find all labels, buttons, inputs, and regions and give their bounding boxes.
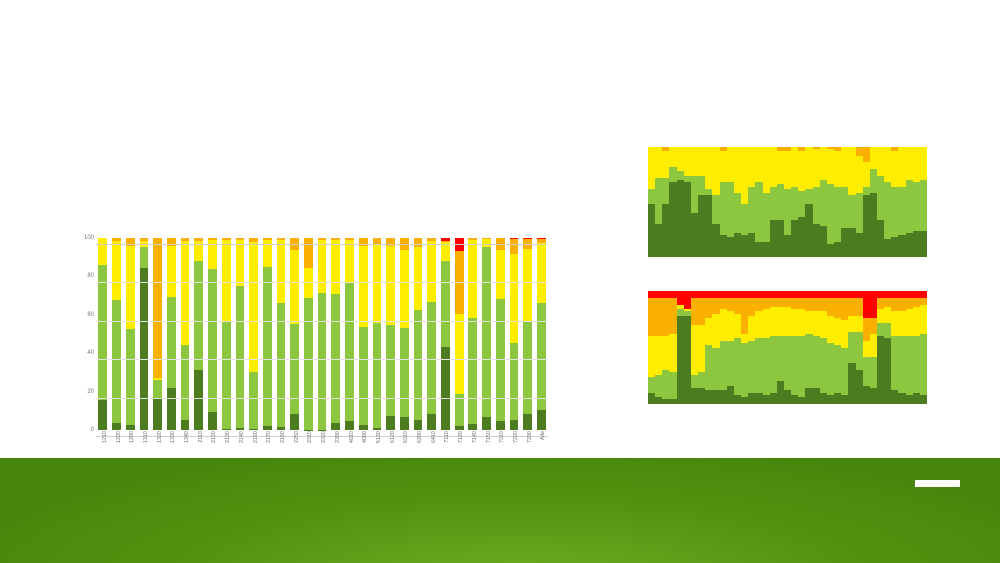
bar-segment-red: [891, 291, 898, 298]
bar-slot[interactable]: [439, 238, 453, 430]
mini-top-bar: [698, 147, 705, 257]
stacked-bar[interactable]: [441, 238, 450, 430]
main-chart-x-axis: 1210122012901310132013301340211021202130…: [96, 431, 548, 444]
y-axis-tick-label: 40: [74, 350, 94, 356]
bar-segment-yellow: [727, 147, 734, 182]
bar-segment-dark-green: [208, 412, 217, 430]
bar-segment-light-green: [770, 187, 777, 220]
bar-segment-light-green: [712, 195, 719, 224]
mini-top-bar: [834, 147, 841, 257]
bar-segment-light-green: [741, 343, 748, 397]
bar-segment-dark-green: [827, 395, 834, 404]
bar-slot[interactable]: [466, 238, 480, 430]
bar-segment-yellow: [813, 149, 820, 186]
mini-bottom-bar: [684, 291, 691, 404]
mini-stacked-bar-chart-top: [648, 147, 927, 257]
bar-segment-yellow: [906, 147, 913, 180]
bar-slot[interactable]: [192, 238, 206, 430]
stacked-bar[interactable]: [208, 238, 217, 430]
bar-slot[interactable]: [233, 238, 247, 430]
bar-segment-yellow: [662, 336, 669, 370]
y-axis-tick-label: 0: [74, 427, 94, 433]
bar-segment-dark-green: [784, 235, 791, 257]
x-label-slot: 2390: [329, 431, 343, 444]
bar-segment-yellow: [249, 242, 258, 373]
bar-segment-red: [712, 291, 719, 298]
bar-slot[interactable]: [247, 238, 261, 430]
bar-segment-dark-green: [784, 390, 791, 404]
mini-top-bar: [906, 147, 913, 257]
stacked-bar[interactable]: [331, 238, 340, 430]
bar-segment-orange: [691, 298, 698, 325]
bar-segment-dark-green: [798, 397, 805, 404]
bar-segment-dark-green: [734, 233, 741, 257]
bar-segment-yellow: [698, 325, 705, 372]
bar-segment-orange: [870, 318, 877, 334]
bar-segment-light-green: [691, 375, 698, 389]
stacked-bar[interactable]: [140, 238, 149, 430]
bar-segment-yellow: [523, 249, 532, 321]
x-label-slot: 1310: [137, 431, 151, 444]
x-axis-tick-label: 2130: [226, 431, 231, 443]
mini-bottom-bar: [677, 291, 684, 404]
bar-segment-light-green: [777, 184, 784, 219]
bar-segment-dark-green: [684, 316, 691, 404]
bar-segment-light-green: [648, 189, 655, 204]
bar-segment-orange: [898, 298, 905, 312]
bar-segment-yellow: [669, 147, 676, 167]
x-axis-tick-label: 2160: [254, 431, 259, 443]
bar-segment-yellow: [763, 147, 770, 193]
bar-segment-red: [813, 291, 820, 298]
bar-segment-light-green: [784, 336, 791, 390]
bar-segment-dark-green: [734, 395, 741, 404]
bar-segment-light-green: [181, 345, 190, 421]
bar-segment-dark-green: [98, 400, 107, 430]
bar-segment-dark-green: [805, 204, 812, 257]
bar-slot[interactable]: [206, 238, 220, 430]
bar-segment-light-green: [482, 247, 491, 416]
bar-segment-dark-green: [891, 390, 898, 404]
bar-slot[interactable]: [507, 238, 521, 430]
bar-segment-light-green: [655, 375, 662, 398]
stacked-bar[interactable]: [277, 238, 286, 430]
mini-top-bar: [669, 147, 676, 257]
bar-slot[interactable]: [219, 238, 233, 430]
bar-segment-dark-green: [898, 393, 905, 404]
bar-segment-dark-green: [236, 428, 245, 430]
bar-segment-light-green: [655, 178, 662, 224]
bar-segment-light-green: [249, 372, 258, 429]
bar-slot[interactable]: [110, 238, 124, 430]
bar-segment-light-green: [763, 193, 770, 241]
bar-slot[interactable]: [480, 238, 494, 430]
bar-segment-dark-green: [359, 425, 368, 430]
stacked-bar[interactable]: [537, 238, 546, 430]
x-axis-tick-label: 7110: [445, 431, 450, 443]
stacked-bar[interactable]: [263, 238, 272, 430]
bar-segment-yellow: [913, 147, 920, 182]
mini-top-bar: [784, 147, 791, 257]
stacked-bar[interactable]: [386, 238, 395, 430]
mini-top-bar: [841, 147, 848, 257]
bar-slot[interactable]: [288, 238, 302, 430]
bar-slot[interactable]: [397, 238, 411, 430]
bar-segment-light-green: [468, 318, 477, 424]
bar-segment-light-green: [400, 328, 409, 417]
bar-segment-light-green: [414, 310, 423, 420]
bar-segment-dark-green: [468, 424, 477, 430]
bar-segment-red: [805, 291, 812, 298]
mini-top-bar: [755, 147, 762, 257]
bar-slot[interactable]: [356, 238, 370, 430]
bar-segment-light-green: [805, 334, 812, 388]
stacked-bar[interactable]: [400, 238, 409, 430]
bar-segment-dark-green: [913, 393, 920, 404]
bar-segment-yellow: [770, 147, 777, 187]
mini-bottom-bar: [863, 291, 870, 404]
stacked-bar[interactable]: [112, 238, 121, 430]
bar-segment-red: [784, 291, 791, 298]
bar-slot[interactable]: [260, 238, 274, 430]
bar-segment-yellow: [698, 147, 705, 176]
bar-slot[interactable]: [452, 238, 466, 430]
bar-segment-dark-green: [684, 182, 691, 257]
bar-slot[interactable]: [411, 238, 425, 430]
x-label-slot: 2160: [247, 431, 261, 444]
bar-segment-orange: [712, 298, 719, 314]
bar-segment-yellow: [777, 151, 784, 184]
x-axis-tick-label: 2310: [308, 431, 313, 443]
mini-top-bar: [734, 147, 741, 257]
bar-segment-orange: [791, 298, 798, 309]
bar-segment-dark-green: [891, 237, 898, 257]
bar-segment-light-green: [784, 189, 791, 235]
bar-segment-dark-green: [763, 395, 770, 404]
bar-segment-yellow: [870, 147, 877, 169]
bar-segment-orange: [705, 298, 712, 318]
bar-segment-yellow: [345, 240, 354, 283]
bar-slot[interactable]: [96, 238, 110, 430]
bar-segment-orange: [304, 238, 313, 268]
mini-bottom-bar: [727, 291, 734, 404]
mini-top-bar: [741, 147, 748, 257]
bar-segment-yellow: [848, 147, 855, 195]
bar-segment-red: [841, 291, 848, 298]
bar-segment-dark-green: [677, 180, 684, 257]
bar-segment-light-green: [813, 336, 820, 388]
stacked-bar[interactable]: [318, 238, 327, 430]
mini-top-bar: [791, 147, 798, 257]
bar-segment-yellow: [684, 147, 691, 176]
stacked-bar[interactable]: [427, 238, 436, 430]
bar-segment-orange: [755, 298, 762, 312]
x-label-slot: 1210: [96, 431, 110, 444]
bar-segment-light-green: [741, 204, 748, 235]
bar-segment-light-green: [698, 372, 705, 388]
stacked-bar[interactable]: [98, 238, 107, 430]
bar-slot[interactable]: [315, 238, 329, 430]
bar-segment-light-green: [820, 180, 827, 226]
bar-segment-yellow: [898, 147, 905, 187]
bar-slot[interactable]: [384, 238, 398, 430]
stacked-bar[interactable]: [290, 238, 299, 430]
bar-slot[interactable]: [151, 238, 165, 430]
bar-slot[interactable]: [425, 238, 439, 430]
mini-top-bar: [798, 147, 805, 257]
stacked-bar[interactable]: [167, 238, 176, 430]
mini-top-bar: [870, 147, 877, 257]
bar-segment-yellow: [712, 147, 719, 195]
bar-segment-light-green: [236, 286, 245, 428]
bar-segment-dark-green: [748, 393, 755, 404]
bar-segment-yellow: [537, 243, 546, 303]
x-label-slot: Alle: [535, 431, 549, 444]
bar-segment-red: [669, 291, 676, 298]
bar-segment-dark-green: [194, 370, 203, 430]
mini-bottom-bar: [856, 291, 863, 404]
bar-segment-dark-green: [720, 390, 727, 404]
x-axis-tick-label: 1290: [130, 431, 135, 443]
bar-segment-dark-green: [877, 336, 884, 404]
mini-bottom-bar: [870, 291, 877, 404]
bar-segment-light-green: [755, 338, 762, 392]
bar-segment-light-green: [712, 348, 719, 391]
bar-segment-dark-green: [662, 399, 669, 404]
bar-segment-dark-green: [345, 421, 354, 430]
x-label-slot: 7150: [480, 431, 494, 444]
stacked-bar[interactable]: [345, 238, 354, 430]
bar-segment-red: [720, 291, 727, 298]
bar-segment-dark-green: [691, 213, 698, 257]
x-axis-tick-label: 2170: [267, 431, 272, 443]
main-chart-bars: [96, 238, 548, 430]
mini-top-bar: [677, 147, 684, 257]
stacked-bar[interactable]: [153, 238, 162, 430]
bar-segment-red: [684, 291, 691, 309]
bar-segment-yellow: [755, 311, 762, 338]
bar-segment-orange: [863, 147, 870, 162]
bar-segment-light-green: [834, 187, 841, 242]
bar-segment-yellow: [741, 147, 748, 204]
bar-segment-light-green: [848, 195, 855, 228]
bar-segment-light-green: [755, 182, 762, 241]
bar-segment-light-green: [662, 178, 669, 204]
mini-top-bar: [770, 147, 777, 257]
bar-slot[interactable]: [343, 238, 357, 430]
bar-segment-red: [755, 291, 762, 298]
bar-segment-light-green: [373, 323, 382, 429]
bar-segment-yellow: [763, 309, 770, 338]
bar-segment-yellow: [455, 314, 464, 394]
mini-bottom-bar: [834, 291, 841, 404]
stacked-bar[interactable]: [455, 238, 464, 430]
bar-segment-yellow: [655, 336, 662, 374]
bar-segment-yellow: [770, 307, 777, 336]
x-label-slot: 1320: [151, 431, 165, 444]
bar-segment-red: [906, 291, 913, 298]
stacked-bar[interactable]: [181, 238, 190, 430]
bar-segment-light-green: [648, 377, 655, 393]
bar-segment-light-green: [856, 332, 863, 370]
stacked-bar[interactable]: [126, 238, 135, 430]
x-axis-tick-label: 1330: [171, 431, 176, 443]
bar-segment-light-green: [510, 343, 519, 420]
bar-segment-orange: [856, 147, 863, 156]
mini-top-bar: [863, 147, 870, 257]
stacked-bar[interactable]: [359, 238, 368, 430]
mini-bottom-bar: [827, 291, 834, 404]
x-label-slot: 6410: [425, 431, 439, 444]
bar-segment-dark-green: [856, 370, 863, 404]
bar-segment-dark-green: [856, 233, 863, 257]
bar-segment-dark-green: [755, 242, 762, 257]
bar-segment-dark-green: [523, 414, 532, 430]
mini-bottom-bar: [898, 291, 905, 404]
mini-top-bar: [827, 147, 834, 257]
bar-segment-dark-green: [748, 233, 755, 257]
bar-slot[interactable]: [178, 238, 192, 430]
x-axis-tick-label: 7140: [473, 431, 478, 443]
bar-segment-yellow: [400, 250, 409, 328]
bar-segment-light-green: [848, 332, 855, 364]
bar-slot[interactable]: [165, 238, 179, 430]
bar-segment-light-green: [684, 176, 691, 183]
bar-segment-orange: [884, 298, 891, 307]
mini-top-bar: [705, 147, 712, 257]
bar-segment-light-green: [813, 187, 820, 224]
bar-segment-orange: [648, 298, 655, 336]
x-axis-tick-label: 7220: [514, 431, 519, 443]
stacked-bar[interactable]: [304, 238, 313, 430]
bar-segment-light-green: [920, 334, 927, 395]
gridline: [96, 244, 548, 245]
gridline: [96, 398, 548, 399]
stacked-bar[interactable]: [496, 238, 505, 430]
bar-segment-light-green: [913, 182, 920, 230]
bar-segment-red: [698, 291, 705, 298]
bar-segment-light-green: [705, 189, 712, 196]
gridline: [96, 321, 548, 322]
bar-segment-dark-green: [791, 220, 798, 257]
bar-segment-orange: [662, 298, 669, 336]
bar-slot[interactable]: [493, 238, 507, 430]
bar-segment-light-green: [318, 293, 327, 430]
bar-segment-yellow: [648, 147, 655, 189]
bar-segment-dark-green: [669, 182, 676, 257]
stacked-bar[interactable]: [222, 238, 231, 430]
mini-top-bar: [813, 147, 820, 257]
bar-segment-dark-green: [249, 429, 258, 430]
stacked-bar[interactable]: [414, 238, 423, 430]
stacked-bar[interactable]: [523, 238, 532, 430]
bar-segment-dark-green: [669, 399, 676, 404]
mini-bottom-bar: [770, 291, 777, 404]
bar-slot[interactable]: [302, 238, 316, 430]
bar-segment-light-green: [763, 338, 770, 395]
x-label-slot: 1220: [110, 431, 124, 444]
bar-segment-dark-green: [770, 220, 777, 257]
bar-segment-red: [691, 291, 698, 298]
bar-segment-light-green: [222, 321, 231, 429]
stacked-bar[interactable]: [510, 238, 519, 430]
bar-segment-light-green: [834, 345, 841, 392]
bar-segment-orange: [720, 298, 727, 309]
bar-segment-yellow: [798, 151, 805, 191]
bar-segment-orange: [834, 298, 841, 318]
x-label-slot: 2320: [315, 431, 329, 444]
bar-segment-dark-green: [906, 233, 913, 257]
bar-segment-dark-green: [655, 397, 662, 404]
bar-segment-yellow: [98, 238, 107, 265]
bar-slot[interactable]: [274, 238, 288, 430]
bar-segment-yellow: [720, 151, 727, 182]
bar-slot[interactable]: [521, 238, 535, 430]
bar-segment-red: [763, 291, 770, 298]
stacked-bar[interactable]: [236, 238, 245, 430]
bar-segment-yellow: [720, 309, 727, 341]
mini-bottom-bar: [748, 291, 755, 404]
mini-top-bar: [920, 147, 927, 257]
mini-bottom-bar: [720, 291, 727, 404]
x-label-slot: 2310: [302, 431, 316, 444]
bar-segment-yellow: [920, 147, 927, 180]
bar-segment-yellow: [863, 162, 870, 186]
bar-segment-light-green: [537, 303, 546, 411]
stacked-bar[interactable]: [468, 238, 477, 430]
bar-segment-dark-green: [777, 220, 784, 257]
bar-segment-light-green: [263, 267, 272, 426]
stacked-bar[interactable]: [373, 238, 382, 430]
bar-segment-dark-green: [906, 395, 913, 404]
bar-slot[interactable]: [123, 238, 137, 430]
bar-segment-light-green: [898, 187, 905, 235]
bar-slot[interactable]: [535, 238, 549, 430]
mini-bottom-bar: [791, 291, 798, 404]
mini-top-bar: [777, 147, 784, 257]
stacked-bar[interactable]: [194, 238, 203, 430]
bar-segment-yellow: [290, 250, 299, 324]
mini-top-bar: [891, 147, 898, 257]
bar-segment-dark-green: [537, 410, 546, 430]
mini-bottom-bar: [848, 291, 855, 404]
bar-slot[interactable]: [329, 238, 343, 430]
bar-segment-dark-green: [112, 423, 121, 430]
x-label-slot: 2110: [192, 431, 206, 444]
bar-segment-red: [677, 291, 684, 305]
bar-segment-red: [863, 291, 870, 318]
x-axis-tick-label: Alle: [541, 431, 546, 440]
bar-slot[interactable]: [137, 238, 151, 430]
bar-segment-yellow: [805, 311, 812, 334]
bar-segment-dark-green: [805, 388, 812, 404]
bar-segment-light-green: [791, 336, 798, 395]
x-axis-tick-label: 7210: [500, 431, 505, 443]
bar-segment-light-green: [820, 338, 827, 392]
bar-segment-yellow: [877, 309, 884, 323]
bar-segment-red: [827, 291, 834, 298]
bar-segment-red: [834, 291, 841, 298]
stacked-bar[interactable]: [482, 238, 491, 430]
mini-bottom-bar: [920, 291, 927, 404]
mini-top-bar: [877, 147, 884, 257]
bar-segment-red: [856, 291, 863, 298]
bar-segment-light-green: [898, 336, 905, 393]
bar-segment-light-green: [863, 357, 870, 386]
x-label-slot: 7220: [507, 431, 521, 444]
bar-slot[interactable]: [370, 238, 384, 430]
stacked-bar[interactable]: [249, 238, 258, 430]
